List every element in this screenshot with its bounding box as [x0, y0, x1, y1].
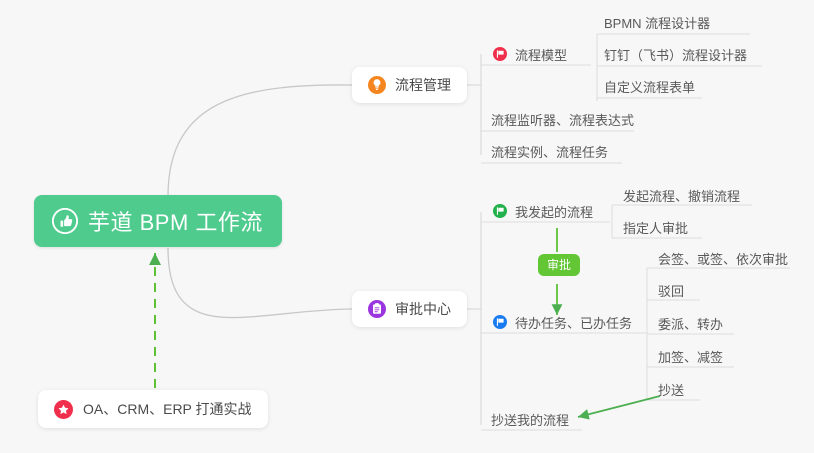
node-label: 加签、减签 — [658, 347, 723, 366]
annotation-bottom-card[interactable]: OA、CRM、ERP 打通实战 — [38, 390, 268, 428]
root-node[interactable]: 芋道 BPM 工作流 — [34, 195, 282, 247]
star-icon — [54, 400, 73, 419]
node-label: 指定人审批 — [623, 218, 688, 237]
node-bpmn-designer[interactable]: BPMN 流程设计器 — [604, 11, 710, 33]
node-todo-done-tasks[interactable]: 待办任务、已办任务 — [493, 311, 632, 333]
edge-root-to-shenpizhongxin — [168, 248, 352, 318]
clipboard-icon — [368, 300, 386, 318]
root-label: 芋道 BPM 工作流 — [88, 205, 263, 237]
node-cc[interactable]: 抄送 — [658, 378, 684, 400]
edge-root-to-liuchengguanli — [168, 85, 352, 196]
annotation-bottom-label: OA、CRM、ERP 打通实战 — [83, 399, 252, 419]
flag-icon — [493, 47, 507, 61]
node-delegate-transfer[interactable]: 委派、转办 — [658, 312, 723, 334]
node-liuchengmoxing[interactable]: 流程模型 — [493, 43, 567, 65]
node-label: 钉钉（飞书）流程设计器 — [604, 45, 747, 64]
node-label: 驳回 — [658, 281, 684, 300]
node-initiate-cancel[interactable]: 发起流程、撤销流程 — [623, 184, 740, 206]
flag-icon — [493, 204, 507, 218]
node-label: 发起流程、撤销流程 — [623, 186, 740, 205]
mindmap-canvas: 芋道 BPM 工作流 流程管理 流程模型 BPMN 流程设计器 钉钉（飞书）流程… — [0, 0, 814, 453]
node-label: 待办任务、已办任务 — [515, 313, 632, 332]
annotation-approve-tag: 审批 — [538, 254, 580, 276]
node-label: 流程实例、流程任务 — [491, 142, 608, 161]
lightbulb-icon — [368, 76, 386, 94]
branch-label: 审批中心 — [395, 299, 451, 319]
node-label: 委派、转办 — [658, 314, 723, 333]
node-assignee-approve[interactable]: 指定人审批 — [623, 216, 688, 238]
node-label: 抄送我的流程 — [491, 410, 569, 429]
node-label: BPMN 流程设计器 — [604, 13, 710, 32]
node-dingding-designer[interactable]: 钉钉（飞书）流程设计器 — [604, 43, 747, 65]
node-instance-task[interactable]: 流程实例、流程任务 — [491, 140, 608, 162]
branch-liuchengguanli[interactable]: 流程管理 — [352, 67, 467, 103]
node-label: 我发起的流程 — [515, 202, 593, 221]
branch-label: 流程管理 — [395, 75, 451, 95]
thumbs-up-icon — [52, 208, 78, 234]
node-listener-expression[interactable]: 流程监听器、流程表达式 — [491, 108, 634, 130]
edge-green-chaosong — [578, 396, 660, 417]
node-label: 自定义流程表单 — [604, 77, 695, 96]
annotation-approve-label: 审批 — [547, 258, 571, 272]
flag-icon — [493, 315, 507, 329]
node-add-remove-sign[interactable]: 加签、减签 — [658, 345, 723, 367]
node-label: 流程模型 — [515, 45, 567, 64]
node-custom-form[interactable]: 自定义流程表单 — [604, 75, 695, 97]
node-label: 流程监听器、流程表达式 — [491, 110, 634, 129]
node-my-initiated[interactable]: 我发起的流程 — [493, 200, 593, 222]
node-cc-to-me[interactable]: 抄送我的流程 — [491, 408, 569, 430]
node-reject[interactable]: 驳回 — [658, 279, 684, 301]
node-label: 抄送 — [658, 380, 684, 399]
node-countersign[interactable]: 会签、或签、依次审批 — [658, 247, 788, 269]
branch-shenpizhongxin[interactable]: 审批中心 — [352, 291, 467, 327]
node-label: 会签、或签、依次审批 — [658, 249, 788, 268]
